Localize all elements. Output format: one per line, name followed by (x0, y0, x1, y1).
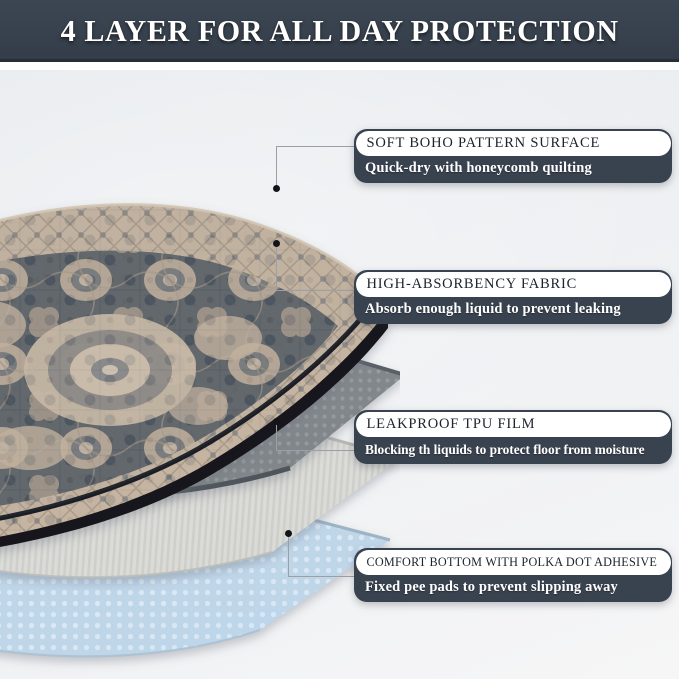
callout-leakproof-tpu-film[interactable]: LEAKPROOF TPU FILM Blocking th liquids t… (354, 410, 672, 464)
callout-1-subtitle: Quick-dry with honeycomb quilting (354, 156, 672, 183)
connector-3-dot (273, 418, 280, 425)
page-title: 4 LAYER FOR ALL DAY PROTECTION (60, 15, 618, 48)
callout-3-frame: LEAKPROOF TPU FILM Blocking th liquids t… (354, 410, 672, 464)
header-underline (0, 59, 679, 62)
connector-2-dot (273, 240, 280, 247)
callout-soft-boho-pattern-surface[interactable]: SOFT BOHO PATTERN SURFACE Quick-dry with… (354, 129, 672, 183)
callout-4-subtitle: Fixed pee pads to prevent slipping away (354, 575, 672, 602)
callout-4-frame: COMFORT BOTTOM WITH POLKA DOT ADHESIVE F… (354, 548, 672, 602)
callout-high-absorbency-fabric[interactable]: HIGH-ABSORBENCY FABRIC Absorb enough liq… (354, 270, 672, 324)
header-bar: 4 LAYER FOR ALL DAY PROTECTION (0, 0, 679, 62)
infographic-page: 4 LAYER FOR ALL DAY PROTECTION (0, 0, 679, 679)
connector-4-dot (285, 530, 292, 537)
connector-1-dot (273, 185, 280, 192)
connector-2 (276, 290, 366, 338)
connector-3-horizontal (276, 450, 366, 451)
connector-2-vertical (276, 244, 277, 290)
connector-1-vertical (276, 146, 277, 188)
connector-3-vertical (276, 422, 277, 450)
connector-1-horizontal (276, 146, 366, 147)
connector-1 (276, 146, 366, 194)
callout-4-title: COMFORT BOTTOM WITH POLKA DOT ADHESIVE (356, 550, 671, 575)
callout-3-title: LEAKPROOF TPU FILM (356, 412, 671, 437)
callout-comfort-bottom-polka-dot-adhesive[interactable]: COMFORT BOTTOM WITH POLKA DOT ADHESIVE F… (354, 548, 672, 602)
callout-1-frame: SOFT BOHO PATTERN SURFACE Quick-dry with… (354, 129, 672, 183)
callout-2-frame: HIGH-ABSORBENCY FABRIC Absorb enough liq… (354, 270, 672, 324)
callout-2-title: HIGH-ABSORBENCY FABRIC (356, 272, 671, 297)
callout-2-subtitle: Absorb enough liquid to prevent leaking (354, 297, 672, 324)
connector-3 (276, 450, 366, 498)
connector-2-horizontal (276, 290, 366, 291)
connector-4-vertical (288, 534, 289, 576)
callout-3-subtitle: Blocking th liquids to protect floor fro… (354, 437, 672, 464)
callout-1-title: SOFT BOHO PATTERN SURFACE (356, 131, 671, 156)
